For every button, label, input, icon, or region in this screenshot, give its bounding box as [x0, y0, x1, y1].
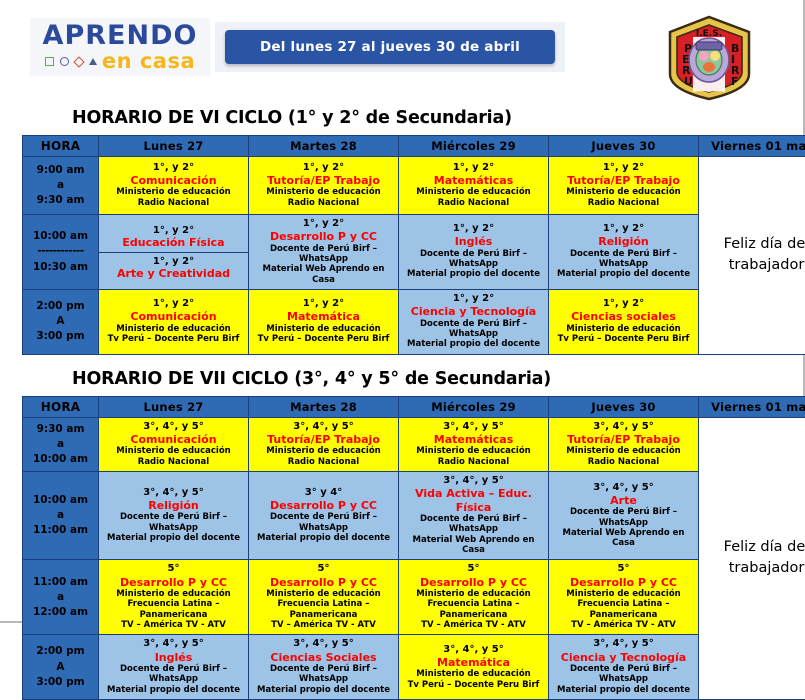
schedule-cell-meta: TV – América TV - ATV: [251, 620, 396, 630]
course-name: Comunicación: [101, 174, 246, 187]
schedule-cell-meta: Docente de Perú Birf – WhatsApp: [251, 244, 396, 265]
grade-label: 3°, 4°, y 5°: [251, 421, 396, 433]
schedule-cell-meta: Docente de Perú Birf – WhatsApp: [401, 249, 546, 270]
time-slot-cell: 10:00 am------------10:30 am: [23, 215, 99, 290]
grade-label: 3°, 4°, y 5°: [101, 421, 246, 433]
schedule-cell-meta: Radio Nacional: [401, 198, 546, 208]
time-slot-cell: 9:00 ama9:30 am: [23, 157, 99, 215]
schedule-cell-meta: Frecuencia Latina – Panamericana: [101, 599, 246, 620]
table-row: 10:00 ama11:00 am3°, 4°, y 5°ReligiónDoc…: [23, 472, 805, 560]
schedule-cell: 1°, y 2°ReligiónDocente de Perú Birf – W…: [549, 215, 699, 290]
schedule-cell-meta: TV – América TV - ATV: [401, 620, 546, 630]
course-name: Tutoría/EP Trabajo: [251, 174, 396, 187]
column-header-hora: HORA: [23, 136, 99, 157]
schedule-cell: 3°, 4°, y 5°Ciencias SocialesDocente de …: [249, 635, 399, 700]
course-name: Tutoría/EP Trabajo: [551, 174, 696, 187]
schedule-cell-meta: Docente de Perú Birf – WhatsApp: [101, 664, 246, 685]
schedule-cell-meta: Ministerio de educación: [401, 446, 546, 456]
diamond-icon: [73, 56, 84, 67]
course-name: Matemática: [251, 310, 396, 323]
time-slot-line: 10:30 am: [23, 260, 98, 275]
schedule-page: APRENDO en casa Del lunes 27 al jueves 3…: [0, 0, 805, 623]
schedule-cell: 3°, 4°, y 5°MatemáticasMinisterio de edu…: [399, 417, 549, 471]
table-row: 11:00 ama12:00 am5°Desarrollo P y CCMini…: [23, 560, 805, 635]
schedule-cell-meta: Material Web Aprendo en Casa: [401, 535, 546, 556]
schedule-cell-meta: Radio Nacional: [401, 457, 546, 467]
crest-icon: I.E.S. P E R U B I R F: [662, 12, 757, 102]
course-name: Comunicación: [101, 310, 246, 323]
schedule-cell-meta: Tv Perú – Docente Peru Birf: [251, 334, 396, 344]
grade-label: 1°, y 2°: [101, 256, 246, 267]
grade-label: 1°, y 2°: [101, 225, 246, 236]
triangle-icon: [89, 58, 97, 65]
grade-label: 5°: [101, 563, 246, 575]
holiday-cell: Feliz día del trabajador: [699, 157, 805, 355]
grade-label: 3°, 4°, y 5°: [401, 421, 546, 433]
column-header-martes-28: Martes 28: [249, 396, 399, 417]
schedule-cell: 1°, y 2°Tutoría/EP TrabajoMinisterio de …: [249, 157, 399, 215]
column-header-mi-rcoles-29: Miércoles 29: [399, 396, 549, 417]
schedule-cell-meta: Ministerio de educación: [101, 589, 246, 599]
schedule-cell-meta: Ministerio de educación: [251, 446, 396, 456]
schedule-cell-meta: Docente de Perú Birf – WhatsApp: [251, 512, 396, 533]
schedule-cell: 1°, y 2°Ciencias socialesMinisterio de e…: [549, 290, 699, 355]
schedule-cell-meta: Radio Nacional: [251, 198, 396, 208]
column-header-jueves-30: Jueves 30: [549, 396, 699, 417]
course-name: Desarrollo P y CC: [551, 576, 696, 589]
logo-icon-group: [45, 57, 97, 66]
time-slot-line: 3:00 pm: [23, 329, 98, 344]
schedule-cell-meta: Ministerio de educación: [401, 589, 546, 599]
course-name: Arte: [551, 494, 696, 507]
schedule-cell-meta: Material propio del docente: [251, 533, 396, 543]
grade-label: 3°, 4°, y 5°: [551, 421, 696, 433]
course-name: Matemática: [401, 656, 546, 669]
schedule-cell: 3°, 4°, y 5°Tutoría/EP TrabajoMinisterio…: [249, 417, 399, 471]
school-crest-logo: I.E.S. P E R U B I R F: [662, 12, 757, 102]
schedule-cell-meta: Material propio del docente: [551, 269, 696, 279]
schedule-cell-meta: Radio Nacional: [251, 457, 396, 467]
course-name: Desarrollo P y CC: [251, 499, 396, 512]
schedule-cell: 5°Desarrollo P y CCMinisterio de educaci…: [249, 560, 399, 635]
time-slot-line: 10:00 am: [23, 493, 98, 508]
grade-label: 1°, y 2°: [401, 162, 546, 174]
table2-title: HORARIO DE VII CICLO (3°, 4° y 5° de Sec…: [0, 369, 803, 389]
schedule-cell-meta: Ministerio de educación: [551, 589, 696, 599]
schedule-cell-meta: Material Web Aprendo en Casa: [551, 528, 696, 549]
schedule-cell-meta: Ministerio de educación: [101, 187, 246, 197]
schedule-cell: 1°, y 2°MatemáticasMinisterio de educaci…: [399, 157, 549, 215]
schedule-cell-meta: Docente de Perú Birf – WhatsApp: [251, 664, 396, 685]
course-name: Desarrollo P y CC: [101, 576, 246, 589]
time-slot-line: A: [23, 660, 98, 675]
schedule-cell-meta: Ministerio de educación: [401, 187, 546, 197]
schedule-cell-meta: Docente de Perú Birf – WhatsApp: [401, 514, 546, 535]
column-header-viernes-01-mayo: Viernes 01 mayo: [699, 396, 805, 417]
schedule-cell: 1°, y 2°Educación Física1°, y 2°Arte y C…: [99, 215, 249, 290]
logo-word-encasa: en casa: [102, 51, 195, 72]
time-slot-cell: 2:00 pmA3:00 pm: [23, 290, 99, 355]
course-name: Vida Activa – Educ. Física: [401, 487, 546, 514]
schedule-cell: 3°, 4°, y 5°ArteDocente de Perú Birf – W…: [549, 472, 699, 560]
time-slot-line: 9:30 am: [23, 422, 98, 437]
schedule-cell: 1°, y 2°InglésDocente de Perú Birf – Wha…: [399, 215, 549, 290]
holiday-text: Feliz día del trabajador: [699, 234, 805, 276]
grade-label: 1°, y 2°: [101, 162, 246, 174]
table1-header-row: HORALunes 27Martes 28Miércoles 29Jueves …: [23, 136, 805, 157]
square-icon: [45, 57, 54, 66]
grade-label: 3°, 4°, y 5°: [251, 638, 396, 650]
time-slot-line: a: [23, 437, 98, 452]
time-slot-line: a: [23, 178, 98, 193]
schedule-cell-meta: Ministerio de educación: [251, 589, 396, 599]
schedule-cell-meta: Frecuencia Latina – Panamericana: [551, 599, 696, 620]
logo-word-aprendo: APRENDO: [43, 22, 198, 49]
course-name: Desarrollo P y CC: [251, 576, 396, 589]
table2-body: 9:30 ama10:00 am3°, 4°, y 5°Comunicación…: [23, 417, 805, 699]
grade-label: 3°, 4°, y 5°: [551, 482, 696, 494]
schedule-cell-meta: Radio Nacional: [551, 198, 696, 208]
grade-label: 5°: [401, 563, 546, 575]
schedule-cell-meta: Frecuencia Latina – Panamericana: [401, 599, 546, 620]
column-header-mi-rcoles-29: Miércoles 29: [399, 136, 549, 157]
schedule-cell-meta: Material propio del docente: [101, 533, 246, 543]
time-slot-line: a: [23, 508, 98, 523]
time-slot-line: 11:00 am: [23, 523, 98, 538]
course-name: Arte y Creatividad: [101, 267, 246, 280]
time-slot-line: 9:30 am: [23, 193, 98, 208]
schedule-table-vii-ciclo: HORALunes 27Martes 28Miércoles 29Jueves …: [22, 396, 805, 700]
course-name: Tutoría/EP Trabajo: [551, 433, 696, 446]
schedule-cell: 5°Desarrollo P y CCMinisterio de educaci…: [99, 560, 249, 635]
schedule-cell: 3° y 4°Desarrollo P y CCDocente de Perú …: [249, 472, 399, 560]
course-name: Ciencia y Tecnología: [551, 651, 696, 664]
grade-label: 5°: [251, 563, 396, 575]
schedule-cell-meta: Ministerio de educación: [101, 324, 246, 334]
schedule-cell-meta: Ministerio de educación: [101, 446, 246, 456]
course-name: Tutoría/EP Trabajo: [251, 433, 396, 446]
schedule-cell-meta: Ministerio de educación: [551, 187, 696, 197]
schedule-cell-meta: Ministerio de educación: [251, 324, 396, 334]
grade-label: 1°, y 2°: [401, 223, 546, 235]
crest-top-label: I.E.S.: [696, 29, 722, 39]
schedule-cell: 1°, y 2°Tutoría/EP TrabajoMinisterio de …: [549, 157, 699, 215]
course-name: Ciencias sociales: [551, 310, 696, 323]
table1-title: HORARIO DE VI CICLO (1° y 2° de Secundar…: [0, 108, 803, 128]
time-slot-line: 9:00 am: [23, 163, 98, 178]
aprendo-en-casa-logo: APRENDO en casa: [30, 18, 210, 76]
schedule-cell-meta: Radio Nacional: [101, 457, 246, 467]
table-row: 9:30 ama10:00 am3°, 4°, y 5°Comunicación…: [23, 417, 805, 471]
date-banner-text: Del lunes 27 al jueves 30 de abril: [260, 39, 520, 55]
time-slot-line: ------------: [23, 244, 98, 259]
schedule-table-vi-ciclo: HORALunes 27Martes 28Miércoles 29Jueves …: [22, 135, 805, 355]
column-header-hora: HORA: [23, 396, 99, 417]
course-name: Religión: [101, 499, 246, 512]
grade-label: 3°, 4°, y 5°: [401, 475, 546, 487]
course-name: Matemáticas: [401, 433, 546, 446]
schedule-cell: 1°, y 2°ComunicaciónMinisterio de educac…: [99, 290, 249, 355]
table-row: 2:00 pmA3:00 pm1°, y 2°ComunicaciónMinis…: [23, 290, 805, 355]
schedule-cell: 3°, 4°, y 5°Tutoría/EP TrabajoMinisterio…: [549, 417, 699, 471]
time-slot-line: A: [23, 314, 98, 329]
course-name: Desarrollo P y CC: [401, 576, 546, 589]
time-slot-line: 12:00 am: [23, 605, 98, 620]
grade-label: 5°: [551, 563, 696, 575]
course-name: Ciencia y Tecnología: [401, 305, 546, 318]
schedule-cell-meta: Docente de Perú Birf – WhatsApp: [551, 507, 696, 528]
schedule-cell-meta: Material propio del docente: [401, 339, 546, 349]
table-row: 2:00 pmA3:00 pm3°, 4°, y 5°InglésDocente…: [23, 635, 805, 700]
schedule-cell-meta: Material Web Aprendo en Casa: [251, 264, 396, 285]
schedule-cell-meta: Material propio del docente: [551, 685, 696, 695]
schedule-cell-meta: Ministerio de educación: [551, 324, 696, 334]
course-name: Educación Física: [101, 236, 246, 249]
grade-label: 3°, 4°, y 5°: [551, 638, 696, 650]
schedule-cell-meta: Ministerio de educación: [401, 669, 546, 679]
grade-label: 1°, y 2°: [101, 298, 246, 310]
schedule-cell: 5°Desarrollo P y CCMinisterio de educaci…: [549, 560, 699, 635]
time-slot-cell: 11:00 ama12:00 am: [23, 560, 99, 635]
schedule-cell-meta: Material propio del docente: [401, 269, 546, 279]
column-header-jueves-30: Jueves 30: [549, 136, 699, 157]
schedule-cell-meta: Frecuencia Latina – Panamericana: [251, 599, 396, 620]
schedule-cell-meta: Tv Perú – Docente Peru Birf: [401, 680, 546, 690]
time-slot-cell: 2:00 pmA3:00 pm: [23, 635, 99, 700]
holiday-cell: Feliz día del trabajador: [699, 417, 805, 699]
time-slot-cell: 10:00 ama11:00 am: [23, 472, 99, 560]
course-name: Desarrollo P y CC: [251, 230, 396, 243]
schedule-cell-meta: TV – América TV - ATV: [551, 620, 696, 630]
time-slot-line: a: [23, 590, 98, 605]
table-row: 9:00 ama9:30 am1°, y 2°ComunicaciónMinis…: [23, 157, 805, 215]
schedule-cell-meta: Ministerio de educación: [251, 187, 396, 197]
circle-icon: [60, 57, 69, 66]
schedule-cell-meta: Docente de Perú Birf – WhatsApp: [101, 512, 246, 533]
schedule-cell-meta: Radio Nacional: [101, 198, 246, 208]
course-name: Matemáticas: [401, 174, 546, 187]
date-banner: Del lunes 27 al jueves 30 de abril: [225, 30, 555, 64]
schedule-cell: 3°, 4°, y 5°Vida Activa – Educ. FísicaDo…: [399, 472, 549, 560]
schedule-cell-meta: Ministerio de educación: [551, 446, 696, 456]
date-banner-container: Del lunes 27 al jueves 30 de abril: [215, 22, 565, 72]
grade-label: 1°, y 2°: [551, 162, 696, 174]
schedule-cell-meta: Docente de Perú Birf – WhatsApp: [551, 249, 696, 270]
course-name: Religión: [551, 235, 696, 248]
schedule-cell-meta: Material propio del docente: [101, 685, 246, 695]
column-header-lunes-27: Lunes 27: [99, 396, 249, 417]
schedule-cell: 1°, y 2°MatemáticaMinisterio de educació…: [249, 290, 399, 355]
schedule-cell-meta: Tv Perú – Docente Peru Birf: [551, 334, 696, 344]
grade-label: 3° y 4°: [251, 487, 396, 499]
grade-label: 1°, y 2°: [401, 293, 546, 305]
time-slot-line: 10:00 am: [23, 452, 98, 467]
table-row: 10:00 am------------10:30 am1°, y 2°Educ…: [23, 215, 805, 290]
grade-label: 1°, y 2°: [251, 298, 396, 310]
table1-body: 9:00 ama9:30 am1°, y 2°ComunicaciónMinis…: [23, 157, 805, 355]
schedule-cell: 3°, 4°, y 5°ComunicaciónMinisterio de ed…: [99, 417, 249, 471]
schedule-cell: 3°, 4°, y 5°MatemáticaMinisterio de educ…: [399, 635, 549, 700]
schedule-cell: 3°, 4°, y 5°InglésDocente de Perú Birf –…: [99, 635, 249, 700]
schedule-cell: 3°, 4°, y 5°Ciencia y TecnologíaDocente …: [549, 635, 699, 700]
schedule-subcell: 1°, y 2°Educación Física: [99, 222, 248, 252]
time-slot-line: 2:00 pm: [23, 644, 98, 659]
schedule-cell: 5°Desarrollo P y CCMinisterio de educaci…: [399, 560, 549, 635]
grade-label: 3°, 4°, y 5°: [101, 487, 246, 499]
schedule-cell-meta: Material propio del docente: [251, 685, 396, 695]
course-name: Inglés: [101, 651, 246, 664]
grade-label: 1°, y 2°: [251, 218, 396, 230]
logo-bottom-row: en casa: [45, 51, 195, 72]
column-header-viernes-01-mayo: Viernes 01 mayo: [699, 136, 805, 157]
page-header: APRENDO en casa Del lunes 27 al jueves 3…: [0, 0, 803, 108]
grade-label: 1°, y 2°: [551, 223, 696, 235]
grade-label: 3°, 4°, y 5°: [101, 638, 246, 650]
schedule-cell: 1°, y 2°Ciencia y TecnologíaDocente de P…: [399, 290, 549, 355]
schedule-cell-meta: Docente de Perú Birf – WhatsApp: [401, 319, 546, 340]
schedule-cell: 1°, y 2°Desarrollo P y CCDocente de Perú…: [249, 215, 399, 290]
schedule-cell: 1°, y 2°ComunicaciónMinisterio de educac…: [99, 157, 249, 215]
schedule-cell: 3°, 4°, y 5°ReligiónDocente de Perú Birf…: [99, 472, 249, 560]
grade-label: 1°, y 2°: [551, 298, 696, 310]
schedule-cell-meta: TV – América TV - ATV: [101, 620, 246, 630]
schedule-cell-meta: Tv Perú – Docente Peru Birf: [101, 334, 246, 344]
course-name: Inglés: [401, 235, 546, 248]
column-header-martes-28: Martes 28: [249, 136, 399, 157]
column-header-lunes-27: Lunes 27: [99, 136, 249, 157]
time-slot-line: 10:00 am: [23, 229, 98, 244]
svg-text:F: F: [731, 75, 739, 88]
time-slot-line: 11:00 am: [23, 575, 98, 590]
time-slot-cell: 9:30 ama10:00 am: [23, 417, 99, 471]
course-name: Ciencias Sociales: [251, 651, 396, 664]
grade-label: 3°, 4°, y 5°: [401, 644, 546, 656]
time-slot-line: 2:00 pm: [23, 299, 98, 314]
course-name: Comunicación: [101, 433, 246, 446]
svg-text:U: U: [684, 75, 693, 88]
schedule-subcell: 1°, y 2°Arte y Creatividad: [99, 252, 248, 283]
schedule-cell-meta: Docente de Perú Birf – WhatsApp: [551, 664, 696, 685]
table2-header-row: HORALunes 27Martes 28Miércoles 29Jueves …: [23, 396, 805, 417]
holiday-text: Feliz día del trabajador: [699, 537, 805, 579]
grade-label: 1°, y 2°: [251, 162, 396, 174]
schedule-cell-meta: Radio Nacional: [551, 457, 696, 467]
time-slot-line: 3:00 pm: [23, 675, 98, 690]
